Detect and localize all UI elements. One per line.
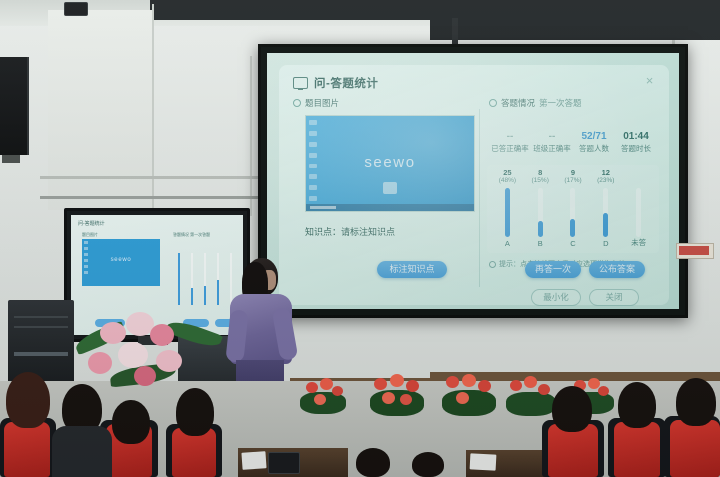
bar-value: 12 — [602, 169, 610, 177]
bar-percent: (15%) — [532, 177, 549, 185]
seat-back — [4, 422, 50, 477]
stat-value: 01:44 — [615, 131, 657, 143]
leaf — [506, 392, 556, 416]
bar-track — [636, 188, 641, 237]
bar-value: 9 — [571, 169, 575, 177]
flower — [150, 324, 174, 346]
projection-screen: 问-答题统计 × 题目图片 seewo 知识点：请标注知 — [258, 44, 688, 318]
audience-shoulders — [52, 426, 112, 477]
classroom-photo: 问-答题统计 × 题目图片 seewo 知识点：请标注知 — [0, 0, 720, 477]
bouquet-stage-2 — [370, 374, 424, 418]
ceiling-speaker — [64, 2, 88, 16]
bullet-icon-2 — [489, 99, 497, 107]
section-label-text: 题目图片 — [305, 97, 339, 109]
ceiling-beam-2 — [430, 0, 720, 40]
stat-label: 班级正确率 — [531, 143, 573, 154]
secondary-seewo-logo: seewo — [82, 257, 160, 263]
stat-answered-accuracy: -- 已答正确率 — [489, 131, 531, 161]
bar-fill — [505, 188, 510, 237]
publish-answer-button[interactable]: 公布答案 — [589, 261, 645, 278]
bullet-icon — [293, 99, 301, 107]
audience-head — [176, 388, 214, 436]
seat-back — [670, 420, 720, 477]
chart-bar-D[interactable]: 12(23%)D — [589, 169, 622, 249]
audience-head — [112, 400, 150, 444]
seewo-logo: seewo — [306, 154, 474, 171]
section-label-text-2: 答题情况 — [501, 97, 535, 109]
wall-trim-horizontal-2 — [40, 196, 270, 199]
flower — [320, 378, 333, 390]
close-button[interactable]: 关闭 — [589, 289, 639, 306]
flower — [306, 382, 318, 393]
secondary-monitor-section-right: 答题情况 第一次答题 — [173, 232, 210, 238]
projection-surface: 问-答题统计 × 题目图片 seewo 知识点：请标注知 — [267, 53, 679, 309]
dialog-divider — [479, 109, 480, 287]
leaf — [370, 390, 424, 416]
flower — [100, 322, 126, 344]
stat-value: -- — [489, 131, 531, 143]
preview-taskbar — [306, 204, 474, 211]
audience-head — [356, 448, 390, 477]
stat-label: 答题人数 — [573, 143, 615, 154]
audience-head — [552, 386, 592, 432]
bar-percent: (23%) — [597, 177, 614, 185]
stat-label: 答题时长 — [615, 143, 657, 154]
chart-bar-B[interactable]: 8(15%)B — [524, 169, 557, 249]
bouquet-stage-1 — [300, 378, 346, 416]
stat-duration: 01:44 答题时长 — [615, 131, 657, 161]
bar-label: B — [524, 239, 557, 248]
desk-paper-left — [241, 451, 266, 470]
answer-statistics-dialog: 问-答题统计 × 题目图片 seewo 知识点：请标注知 — [279, 65, 669, 305]
wall-sign-red-band — [679, 246, 709, 255]
flower — [382, 392, 395, 404]
wall-panel-left — [48, 10, 154, 210]
secondary-bar-track — [204, 253, 206, 305]
wall-tv-left — [0, 57, 29, 155]
wall-seam-1 — [152, 4, 154, 214]
bar-fill — [570, 219, 575, 237]
info-icon — [489, 261, 496, 268]
bar-track — [505, 188, 510, 237]
flower — [88, 352, 112, 374]
cabinet-slot — [14, 316, 68, 318]
question-image-preview[interactable]: seewo — [305, 115, 475, 212]
secondary-bar-track — [191, 253, 193, 305]
wall-seam-2 — [250, 56, 252, 216]
audience-head — [6, 372, 50, 428]
bar-track — [603, 188, 608, 237]
flower — [156, 350, 182, 372]
bar-percent: (48%) — [499, 177, 516, 185]
flower — [406, 380, 419, 392]
flower — [538, 384, 550, 395]
flower — [118, 342, 148, 368]
stat-respondents: 52/71 答题人数 — [573, 131, 615, 161]
secondary-monitor-preview: seewo — [82, 239, 160, 286]
stat-class-accuracy: -- 班级正确率 — [531, 131, 573, 161]
bar-fill — [538, 221, 543, 237]
flower — [598, 386, 609, 396]
flower — [524, 376, 537, 388]
stat-value: -- — [531, 131, 573, 143]
leaf — [442, 390, 496, 416]
mark-knowledge-button[interactable]: 标注知识点 — [377, 261, 447, 278]
stat-value: 52/71 — [573, 131, 615, 143]
section-label-question-image: 题目图片 — [293, 97, 339, 109]
bar-percent: (17%) — [564, 177, 581, 185]
minimize-button[interactable]: 最小化 — [531, 289, 581, 306]
flower — [510, 380, 522, 391]
presenter — [228, 258, 296, 398]
stats-row: -- 已答正确率 -- 班级正确率 52/71 答题人数 01:44 答题时长 — [489, 131, 657, 161]
flower — [400, 394, 412, 405]
secondary-monitor-section-left: 题目图片 — [82, 232, 98, 238]
secondary-bar-fill — [178, 253, 180, 305]
seat-back — [614, 422, 660, 477]
monitor-icon — [293, 77, 308, 89]
equipment-cabinet — [8, 300, 74, 386]
knowledge-point-line: 知识点：请标注知识点 — [305, 225, 395, 238]
desk-paper-right — [470, 453, 497, 470]
flower — [332, 386, 343, 396]
flower — [390, 374, 404, 387]
answer-again-button[interactable]: 再答一次 — [525, 261, 581, 278]
secondary-bar-track — [217, 253, 219, 305]
bar-label: D — [589, 239, 622, 248]
flower — [462, 374, 476, 387]
secondary-monitor-title: 问-答题统计 — [78, 220, 105, 227]
chart-bar-未答[interactable]: 未答 — [622, 169, 655, 249]
secondary-bar-track — [178, 253, 180, 305]
wall-trim-horizontal — [40, 176, 270, 179]
chart-bar-A[interactable]: 25(48%)A — [491, 169, 524, 249]
stat-label: 已答正确率 — [489, 143, 531, 154]
preview-center-icon — [383, 182, 397, 194]
flower — [478, 380, 491, 392]
audience-head — [618, 382, 656, 428]
wall-sign — [676, 243, 714, 259]
bar-track — [538, 188, 543, 237]
chart-bars: 25(48%)A8(15%)B9(17%)C12(23%)D未答 — [491, 169, 655, 249]
flower — [374, 378, 387, 390]
bar-label: A — [491, 239, 524, 248]
section-sublabel: 第一次答题 — [539, 97, 582, 109]
bouquet-podium — [70, 300, 230, 396]
section-label-answer-status: 答题情况 第一次答题 — [489, 97, 582, 109]
bar-track — [570, 188, 575, 237]
dialog-title: 问-答题统计 — [314, 75, 378, 91]
cabinet-slot-2 — [14, 326, 68, 328]
chart-bar-C[interactable]: 9(17%)C — [557, 169, 590, 249]
audience-head — [676, 378, 716, 426]
audience-head — [412, 452, 444, 477]
bar-value: 25 — [503, 169, 511, 177]
dialog-header: 问-答题统计 — [293, 75, 378, 91]
bar-label: 未答 — [622, 237, 655, 248]
close-icon[interactable]: × — [642, 73, 657, 88]
bar-label: C — [557, 239, 590, 248]
answer-distribution-chart: 25(48%)A8(15%)B9(17%)C12(23%)D未答 — [487, 165, 659, 253]
tablet-device[interactable] — [268, 452, 300, 474]
bar-value: 8 — [538, 169, 542, 177]
flower — [446, 376, 459, 388]
flower — [456, 392, 469, 404]
wall-tv-left-mount — [2, 155, 20, 163]
bouquet-stage-3 — [442, 374, 496, 418]
flower — [314, 394, 326, 405]
bar-fill — [603, 213, 608, 237]
cabinet-slot-3 — [14, 352, 68, 356]
flower — [134, 366, 156, 386]
bouquet-stage-4 — [506, 376, 556, 418]
